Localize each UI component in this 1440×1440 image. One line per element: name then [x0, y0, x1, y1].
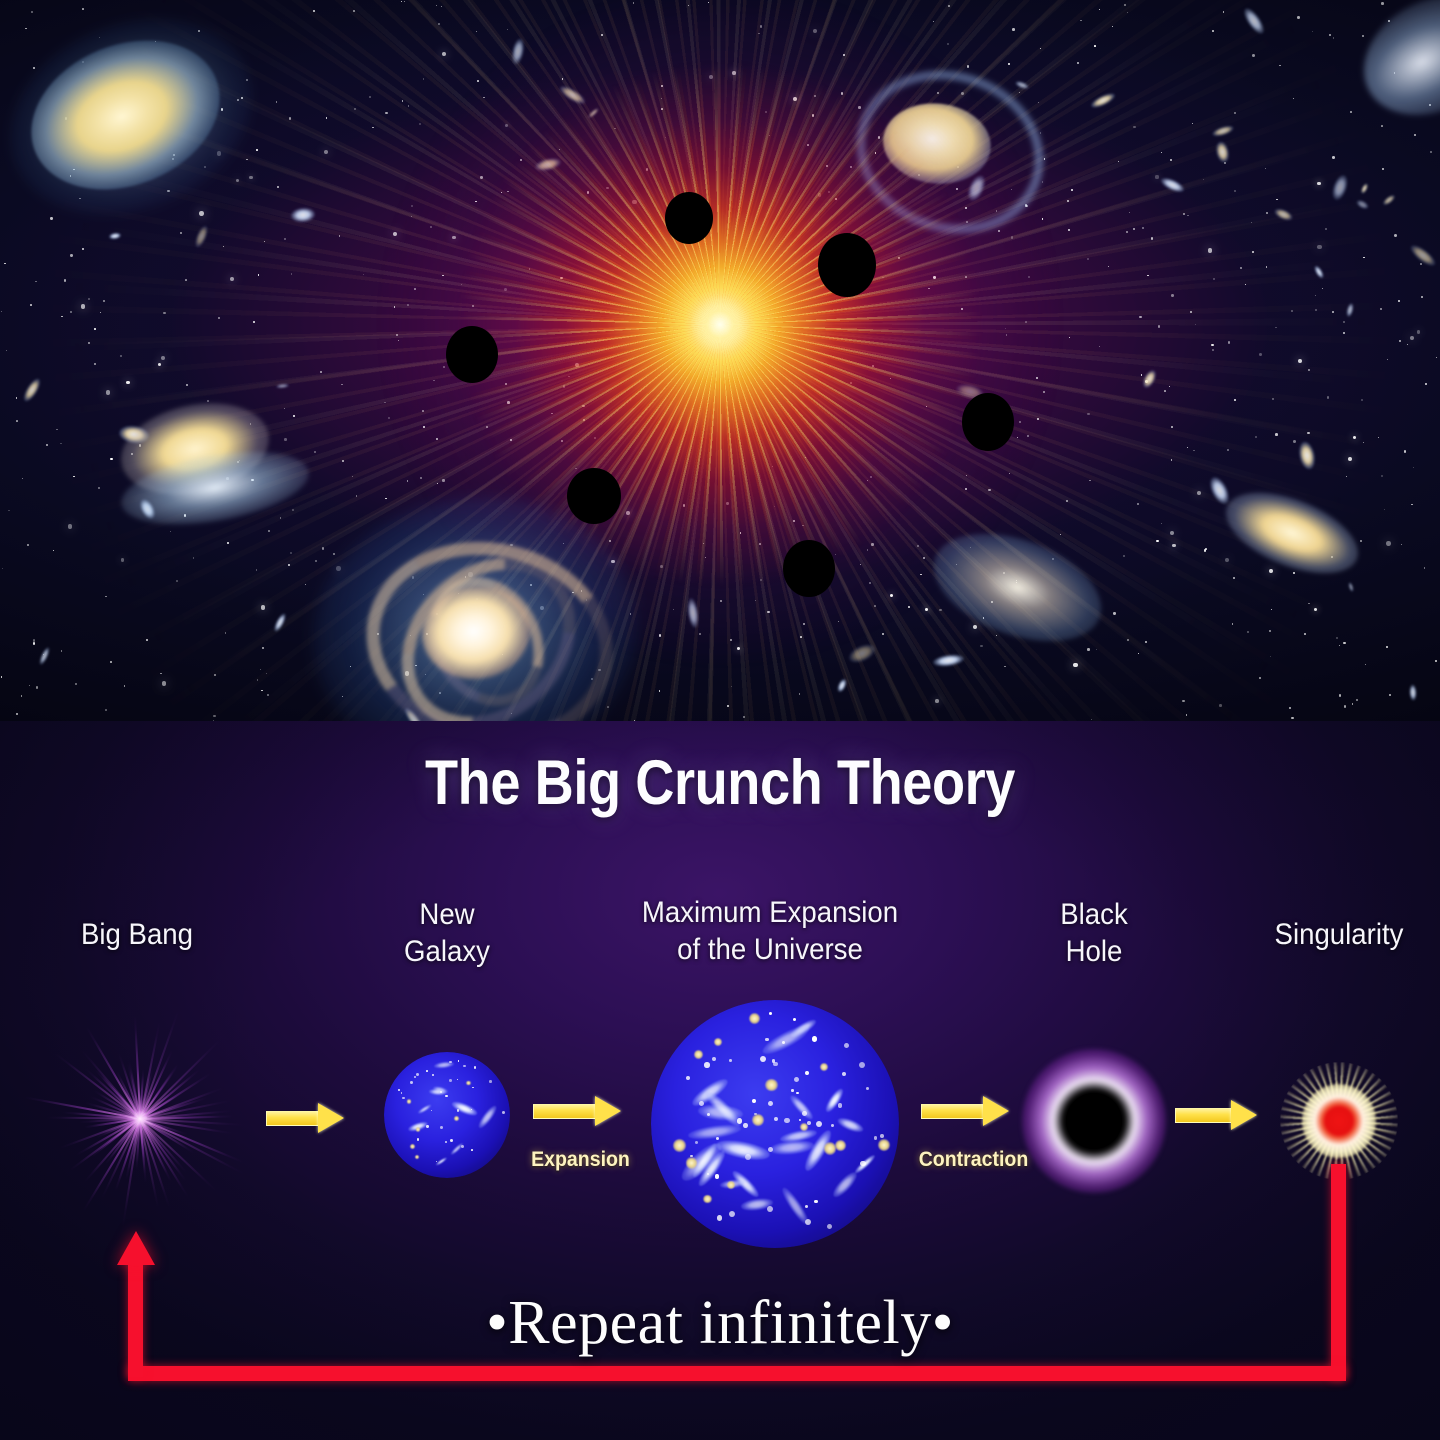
- sphere-yellow-star: [714, 1038, 722, 1046]
- sphere-star: [769, 1012, 772, 1015]
- arrow-head: [983, 1096, 1009, 1126]
- arrow-shaft: [533, 1104, 597, 1119]
- sphere-star: [827, 1224, 832, 1229]
- sphere-star: [695, 1141, 698, 1144]
- black-overlay-blob: [567, 468, 621, 524]
- singularity-core: [1302, 1084, 1376, 1158]
- sphere-star: [461, 1145, 464, 1148]
- black-hole-event-horizon: [1066, 1093, 1122, 1149]
- sphere-star: [838, 1103, 843, 1108]
- explosion-core-glow: [0, 0, 1440, 721]
- stage-label-max-expansion: Maximum Expansion of the Universe: [591, 895, 950, 968]
- stage-label-singularity: Singularity: [1247, 917, 1431, 954]
- arrow-black-hole-to-singularity: [1175, 1100, 1259, 1130]
- sphere-star: [431, 1110, 432, 1111]
- stage-label-line2: Galaxy: [355, 934, 539, 971]
- arrow-shaft: [921, 1104, 985, 1119]
- stage-label-line1: Maximum Expansion: [591, 895, 950, 932]
- new-galaxy-sphere: [384, 1052, 510, 1178]
- sphere-star: [760, 1056, 766, 1062]
- sphere-yellow-star: [824, 1142, 837, 1155]
- repeat-infinitely-text: •Repeat infinitely•: [0, 1288, 1440, 1359]
- sphere-star: [844, 1043, 849, 1048]
- sphere-star: [805, 1071, 810, 1076]
- black-overlay-blob: [665, 192, 713, 244]
- stage-label-big-bang: Big Bang: [45, 917, 229, 954]
- sphere-star: [426, 1070, 428, 1072]
- sphere-star: [793, 1018, 796, 1021]
- black-overlay-blob: [446, 326, 498, 383]
- big-crunch-infographic: The Big Crunch Theory Big Bang New Galax…: [0, 0, 1440, 1440]
- sphere-star: [417, 1138, 420, 1141]
- stage-label-line1: Big Bang: [45, 917, 229, 954]
- page-title: The Big Crunch Theory: [101, 747, 1339, 819]
- sphere-star: [489, 1080, 492, 1083]
- sphere-star: [410, 1081, 413, 1084]
- sphere-yellow-star: [727, 1181, 735, 1189]
- sphere-star: [440, 1126, 443, 1129]
- black-overlay-blob: [783, 540, 835, 597]
- arrow-big-bang-to-new-galaxy: [266, 1103, 344, 1133]
- sphere-star: [743, 1123, 748, 1128]
- sphere-yellow-star: [765, 1079, 778, 1092]
- arrow-head: [318, 1103, 344, 1133]
- black-overlay-blob: [818, 233, 876, 297]
- sphere-star: [831, 1124, 834, 1127]
- sphere-star: [729, 1059, 732, 1062]
- stage-label-black-hole: Black Hole: [1002, 897, 1186, 970]
- sphere-star: [704, 1062, 709, 1067]
- sphere-star: [842, 1072, 846, 1076]
- sphere-star: [474, 1066, 477, 1069]
- sphere-yellow-star: [878, 1139, 890, 1151]
- arrow-shaft: [266, 1111, 320, 1126]
- sphere-star: [814, 1200, 817, 1203]
- arrow-shaft: [1175, 1108, 1233, 1123]
- sphere-star: [768, 1101, 773, 1106]
- sphere-star: [463, 1065, 465, 1067]
- sphere-star: [699, 1101, 704, 1106]
- sphere-star: [767, 1206, 773, 1212]
- sphere-star: [717, 1215, 723, 1221]
- sphere-star: [880, 1134, 884, 1138]
- sphere-star: [471, 1149, 473, 1151]
- sphere-star: [729, 1211, 735, 1217]
- max-expansion-sphere: [651, 1000, 899, 1248]
- sphere-star: [860, 1161, 865, 1166]
- singularity-icon: [1280, 1062, 1398, 1180]
- sphere-star: [802, 1111, 807, 1116]
- sphere-star: [768, 1147, 773, 1152]
- stage-label-line2: of the Universe: [591, 932, 950, 969]
- sphere-star: [440, 1091, 442, 1093]
- sphere-star: [450, 1139, 453, 1142]
- sphere-star: [471, 1109, 472, 1110]
- sphere-yellow-star: [686, 1157, 698, 1169]
- stage-label-new-galaxy: New Galaxy: [355, 897, 539, 970]
- sphere-yellow-star: [415, 1155, 419, 1159]
- transition-label-expansion: Expansion: [504, 1148, 657, 1172]
- sphere-star: [791, 1089, 794, 1092]
- stage-label-line1: New: [355, 897, 539, 934]
- sphere-star: [805, 1205, 808, 1208]
- arrow-head: [595, 1096, 621, 1126]
- sphere-yellow-star: [410, 1144, 415, 1149]
- arrow-head: [1231, 1100, 1257, 1130]
- stage-label-line1: Singularity: [1247, 917, 1431, 954]
- sphere-yellow-star: [752, 1114, 764, 1126]
- sphere-star: [449, 1079, 452, 1082]
- big-bang-space-photo: [0, 0, 1440, 721]
- black-hole-icon: [1040, 1067, 1148, 1175]
- stage-label-line1: Black: [1002, 897, 1186, 934]
- sphere-star: [812, 1036, 818, 1042]
- sphere-star: [874, 1136, 878, 1140]
- sphere-star: [686, 1076, 690, 1080]
- spiral-galaxy-bottom-left: [326, 507, 623, 721]
- stage-label-line2: Hole: [1002, 934, 1186, 971]
- sphere-yellow-star: [673, 1139, 686, 1152]
- sphere-star: [426, 1125, 428, 1127]
- arrow-expansion: [533, 1096, 625, 1126]
- sphere-star: [398, 1089, 400, 1091]
- black-overlay-blob: [962, 393, 1014, 451]
- sphere-yellow-star: [416, 1127, 420, 1131]
- big-bang-burst-icon: [25, 1000, 255, 1235]
- arrow-contraction: [921, 1096, 1013, 1126]
- sphere-star: [816, 1121, 822, 1127]
- sphere-yellow-star: [694, 1050, 703, 1059]
